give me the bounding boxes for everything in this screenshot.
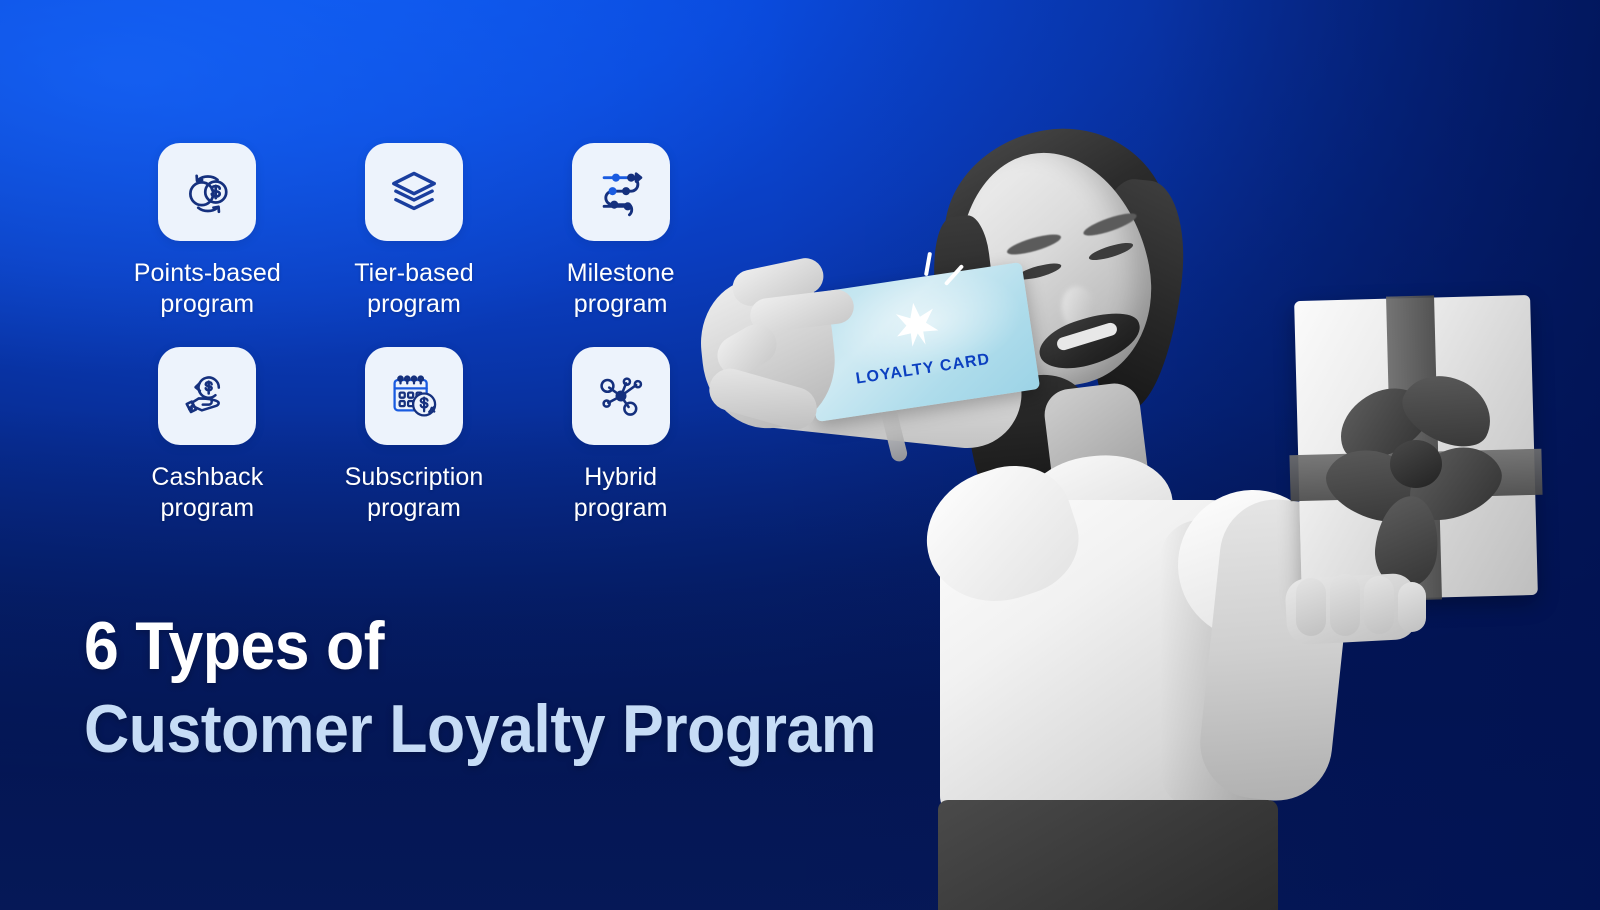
program-icon-tile: [572, 347, 670, 445]
program-label-line1: Tier-based: [354, 259, 474, 287]
program-label: Hybrid program: [574, 462, 668, 523]
program-label-line2: program: [367, 494, 461, 522]
program-label-line1: Points-based: [134, 259, 281, 287]
hero-photo: LOYALTY CARD: [690, 0, 1600, 910]
finger: [1364, 576, 1394, 634]
finger: [1296, 578, 1326, 636]
program-label-line2: program: [574, 290, 668, 318]
program-label-line2: program: [160, 290, 254, 318]
program-row-2: Cashback program: [104, 347, 724, 523]
network-nodes-icon: [594, 369, 648, 423]
winding-roadmap-arrow-icon: [594, 165, 648, 219]
program-card-subscription[interactable]: Subscription program: [311, 347, 518, 523]
headline-line-1: 6 Types of: [84, 612, 876, 681]
program-label-line1: Milestone: [567, 259, 675, 287]
program-label-line2: program: [574, 494, 668, 522]
program-label-line1: Cashback: [151, 463, 263, 491]
program-icon-tile: [158, 347, 256, 445]
headline-line-2: Customer Loyalty Program: [84, 695, 876, 764]
program-label: Subscription program: [345, 462, 484, 523]
program-label-line2: program: [160, 494, 254, 522]
program-label: Tier-based program: [354, 258, 474, 319]
calendar-dollar-refresh-icon: [387, 369, 441, 423]
program-label: Points-based program: [134, 258, 281, 319]
program-icon-tile: [365, 347, 463, 445]
program-card-hybrid[interactable]: Hybrid program: [517, 347, 724, 523]
program-icon-tile: [158, 143, 256, 241]
bow-knot: [1390, 440, 1442, 488]
loyalty-program-banner: LOYALTY CARD: [0, 0, 1600, 910]
skirt: [938, 800, 1278, 910]
person-figure: LOYALTY CARD: [690, 0, 1600, 910]
hair-pin: [924, 252, 932, 276]
program-row-1: Points-based program Tier-based: [104, 143, 724, 319]
program-card-points-based[interactable]: Points-based program: [104, 143, 311, 319]
program-card-cashback[interactable]: Cashback program: [104, 347, 311, 523]
program-label-line2: program: [367, 290, 461, 318]
program-icon-tile: [365, 143, 463, 241]
program-types-grid: Points-based program Tier-based: [104, 143, 724, 523]
finger: [1398, 582, 1426, 632]
program-card-milestone[interactable]: Milestone program: [517, 143, 724, 319]
program-label-line1: Hybrid: [584, 463, 657, 491]
program-icon-tile: [572, 143, 670, 241]
seven-point-star-icon: [890, 298, 942, 350]
program-label: Cashback program: [151, 462, 263, 523]
coins-exchange-dollar-icon: [179, 164, 235, 220]
finger: [1330, 574, 1360, 636]
program-card-tier-based[interactable]: Tier-based program: [311, 143, 518, 319]
headline: 6 Types of Customer Loyalty Program: [84, 612, 945, 765]
program-label-line1: Subscription: [345, 463, 484, 491]
program-label: Milestone program: [567, 258, 675, 319]
hand-holding-coin-return-icon: [180, 369, 234, 423]
stacked-layers-icon: [387, 165, 441, 219]
